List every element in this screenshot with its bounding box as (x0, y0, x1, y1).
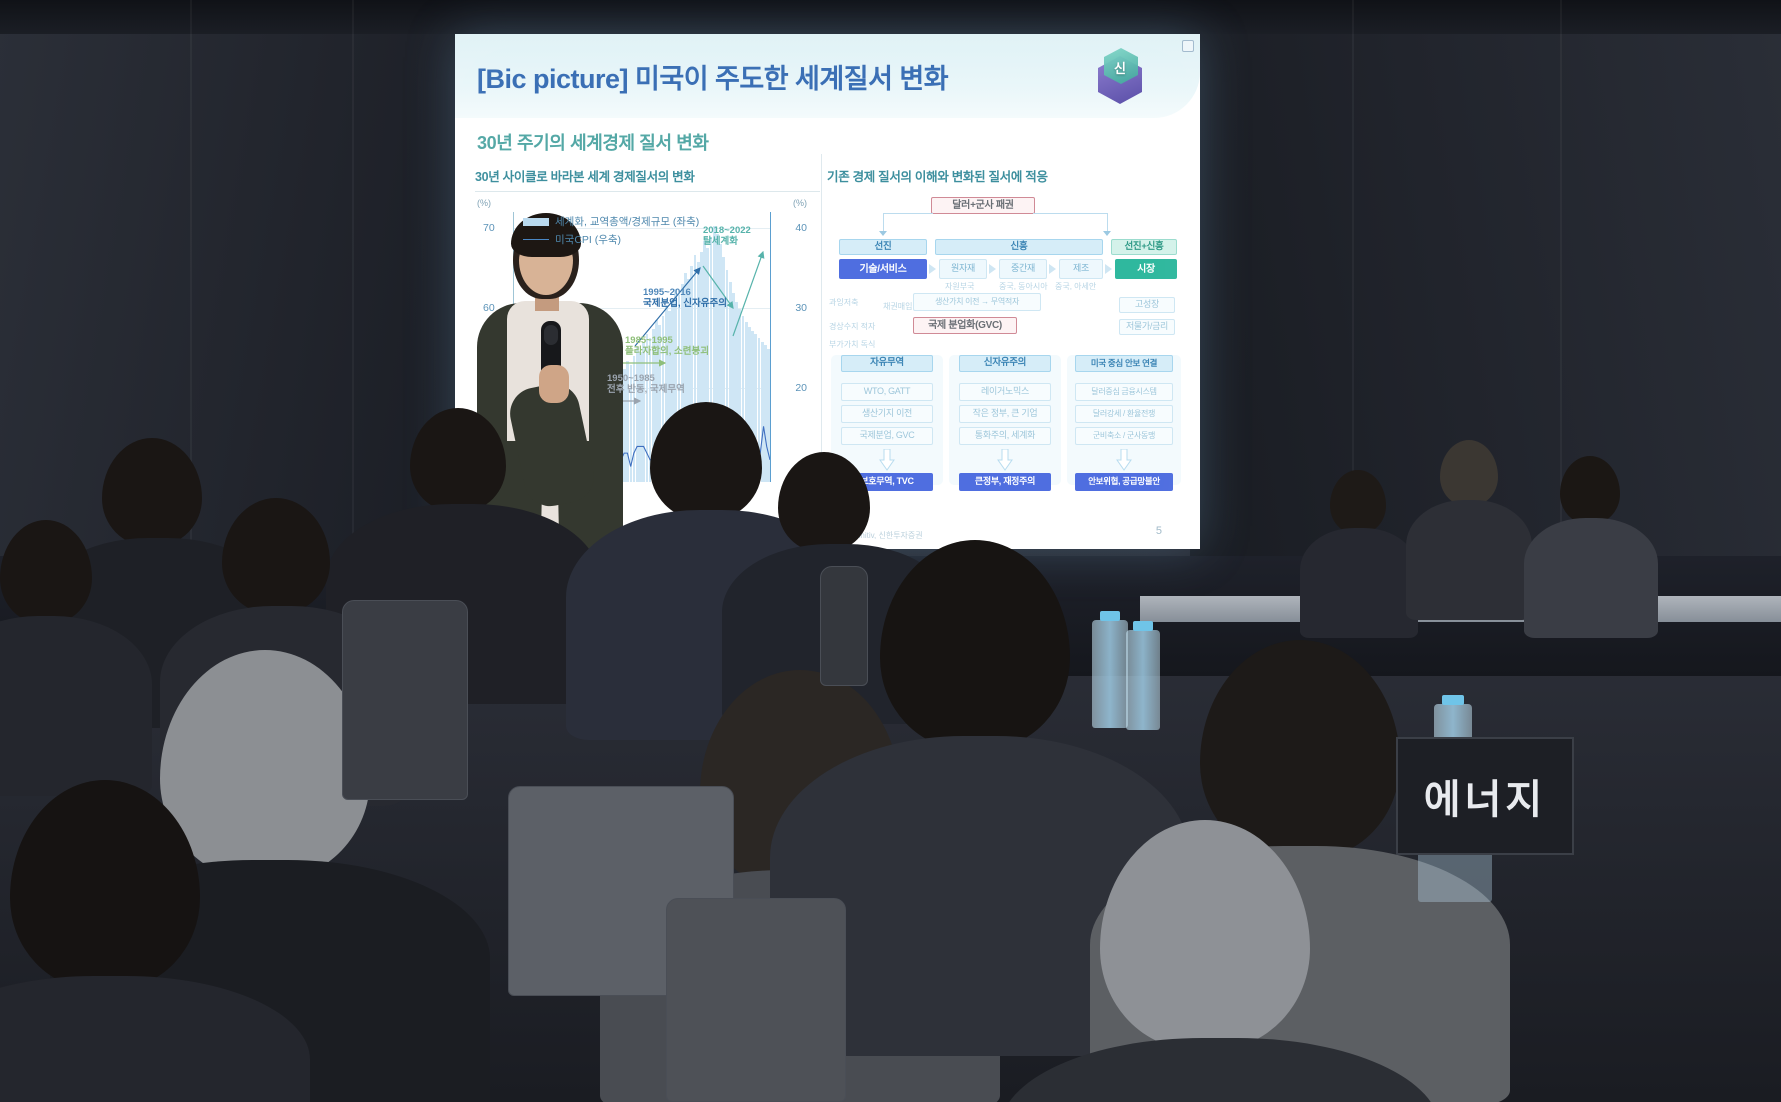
legend-swatch-line-icon (523, 239, 549, 240)
chain-subcaption-2: 중국, 아세안 (1055, 281, 1096, 292)
inflation-rate-box: 저물가/금리 (1119, 319, 1175, 335)
panel-0-item-0: WTO, GATT (841, 383, 933, 401)
legend-item-cpi: 미국CPI (우축) (523, 232, 699, 247)
slide-page-number: 5 (1156, 525, 1162, 537)
wall-seam (1560, 0, 1562, 620)
ceiling-band (0, 0, 1781, 34)
arrow-right-icon (929, 264, 936, 274)
side-label-left-2: 경상수지 적자 (829, 321, 875, 332)
presenter (455, 215, 630, 605)
panel-0-header: 자유무역 (841, 355, 933, 372)
legend-label-1: 미국CPI (우축) (555, 232, 621, 247)
connector (1107, 213, 1108, 233)
right-column: 기존 경제 질서의 이해와 변화된 질서에 적응 달러+군사 패권 선진 신흥 … (827, 166, 1187, 546)
chart-left-axis-unit: (%) (477, 198, 491, 208)
panel-2-item-1: 달러강세 / 환율전쟁 (1075, 405, 1173, 423)
company-emblem-icon: 신 (1092, 48, 1148, 110)
chain-node-tech: 기술/서비스 (839, 259, 927, 279)
legend-label-0: 세계화, 교역총액/경제규모 (좌축) (555, 214, 699, 229)
slide-subtitle: 30년 주기의 세계경제 질서 변화 (477, 129, 709, 155)
chart-annotation-4: 2018~2022 탈세계화 (703, 226, 751, 248)
panel-2-item-0: 달러중심 금융시스템 (1075, 383, 1173, 401)
panel-1-header: 신자유주의 (959, 355, 1051, 372)
panel-1-result: 큰정부, 재정주의 (959, 473, 1051, 491)
heading-rule (475, 191, 820, 192)
side-label-left-1: 과잉저축 (829, 297, 858, 308)
right-column-heading: 기존 경제 질서의 이해와 변화된 질서에 적응 (827, 166, 1187, 191)
fat-arrow-down-icon (1116, 449, 1132, 471)
wall-seam (190, 0, 192, 620)
source-note: 자료: Refinitiv, 신한투자증권 (827, 530, 923, 541)
chart-annotation-2: 1985~1995 플라자합의, 소련붕괴 (625, 336, 709, 358)
chart-annotation-3: 1995~2016 국제분업, 신자유주의 (643, 288, 727, 310)
panel-1-item-1: 작은 정부, 큰 기업 (959, 405, 1051, 423)
chart-annotation-1: 1950~1985 전후 반동, 국제무역 (607, 374, 685, 396)
column-header-emerging: 신흥 (935, 239, 1103, 255)
left-column-heading: 30년 사이클로 바라본 세계 경제질서의 변화 (475, 166, 820, 191)
column-divider (821, 154, 822, 534)
panel-0-item-2: 국제분업, GVC (841, 427, 933, 445)
connector (883, 213, 884, 233)
connector (1033, 213, 1107, 214)
ytick-right-2: 20 (795, 382, 807, 394)
center-transfer-box: 생산가치 이전 → 무역적자 (913, 293, 1041, 311)
wall-right-panel (1190, 0, 1781, 620)
panel-0-item-1: 생산기지 이전 (841, 405, 933, 423)
ytick-right-0: 40 (795, 222, 807, 234)
chart-right-axis-unit: (%) (793, 198, 807, 208)
arrow-right-icon (1049, 264, 1056, 274)
chain-node-market: 시장 (1115, 259, 1177, 279)
emblem-glyph: 신 (1092, 58, 1148, 77)
column-header-both: 선진+신흥 (1111, 239, 1177, 255)
chain-node-raw: 원자재 (939, 259, 987, 279)
chart-legend: 세계화, 교역총액/경제규모 (좌축) 미국CPI (우축) (523, 214, 699, 250)
panel-2-header: 미국 중심 안보 연결 (1075, 355, 1173, 372)
wall-left-panel (0, 0, 470, 620)
camera-indicator-icon (1182, 40, 1194, 52)
panel-1-item-0: 레이거노믹스 (959, 383, 1051, 401)
arrow-right-icon (989, 264, 996, 274)
slide-title: [Bic picture] 미국이 주도한 세계질서 변화 (477, 57, 948, 96)
arrow-down-icon (879, 231, 887, 236)
gvc-box: 국제 분업화(GVC) (913, 317, 1017, 334)
chain-node-manufacture: 제조 (1059, 259, 1103, 279)
connector (883, 213, 933, 214)
arrow-down-icon (1103, 231, 1111, 236)
legend-item-globalization: 세계화, 교역총액/경제규모 (좌축) (523, 214, 699, 229)
arrow-right-icon (1105, 264, 1112, 274)
economic-order-diagram: 달러+군사 패권 선진 신흥 선진+신흥 기술/서비스 원자재 중간재 제조 시… (827, 197, 1185, 549)
value-capture-note: 부가가치 독식 (829, 339, 875, 350)
wall-seam (1352, 0, 1354, 620)
column-header-advanced: 선진 (839, 239, 927, 255)
side-label-bond: 채권매입 (883, 301, 912, 312)
panel-1-item-2: 통화주의, 세계화 (959, 427, 1051, 445)
panel-0-result: 보호무역, TVC (841, 473, 933, 491)
fat-arrow-down-icon (879, 449, 895, 471)
chain-subcaption-1: 중국, 동아시아 (999, 281, 1048, 292)
ytick-right-3: 10 (795, 462, 807, 474)
chain-node-intermediate: 중간재 (999, 259, 1047, 279)
panel-2-item-2: 군비축소 / 군사동맹 (1075, 427, 1173, 445)
ytick-right-1: 30 (795, 302, 807, 314)
chain-subcaption-0: 자원부국 (945, 281, 974, 292)
wall-seam (352, 0, 354, 620)
hegemony-box: 달러+군사 패권 (931, 197, 1035, 214)
wall-lower-band (0, 556, 1781, 676)
fat-arrow-down-icon (997, 449, 1013, 471)
legend-swatch-bar-icon (523, 218, 549, 226)
growth-box: 고성장 (1119, 297, 1175, 313)
panel-2-result: 안보위협, 공급망불안 (1075, 473, 1173, 491)
presenter-hand (539, 365, 569, 403)
